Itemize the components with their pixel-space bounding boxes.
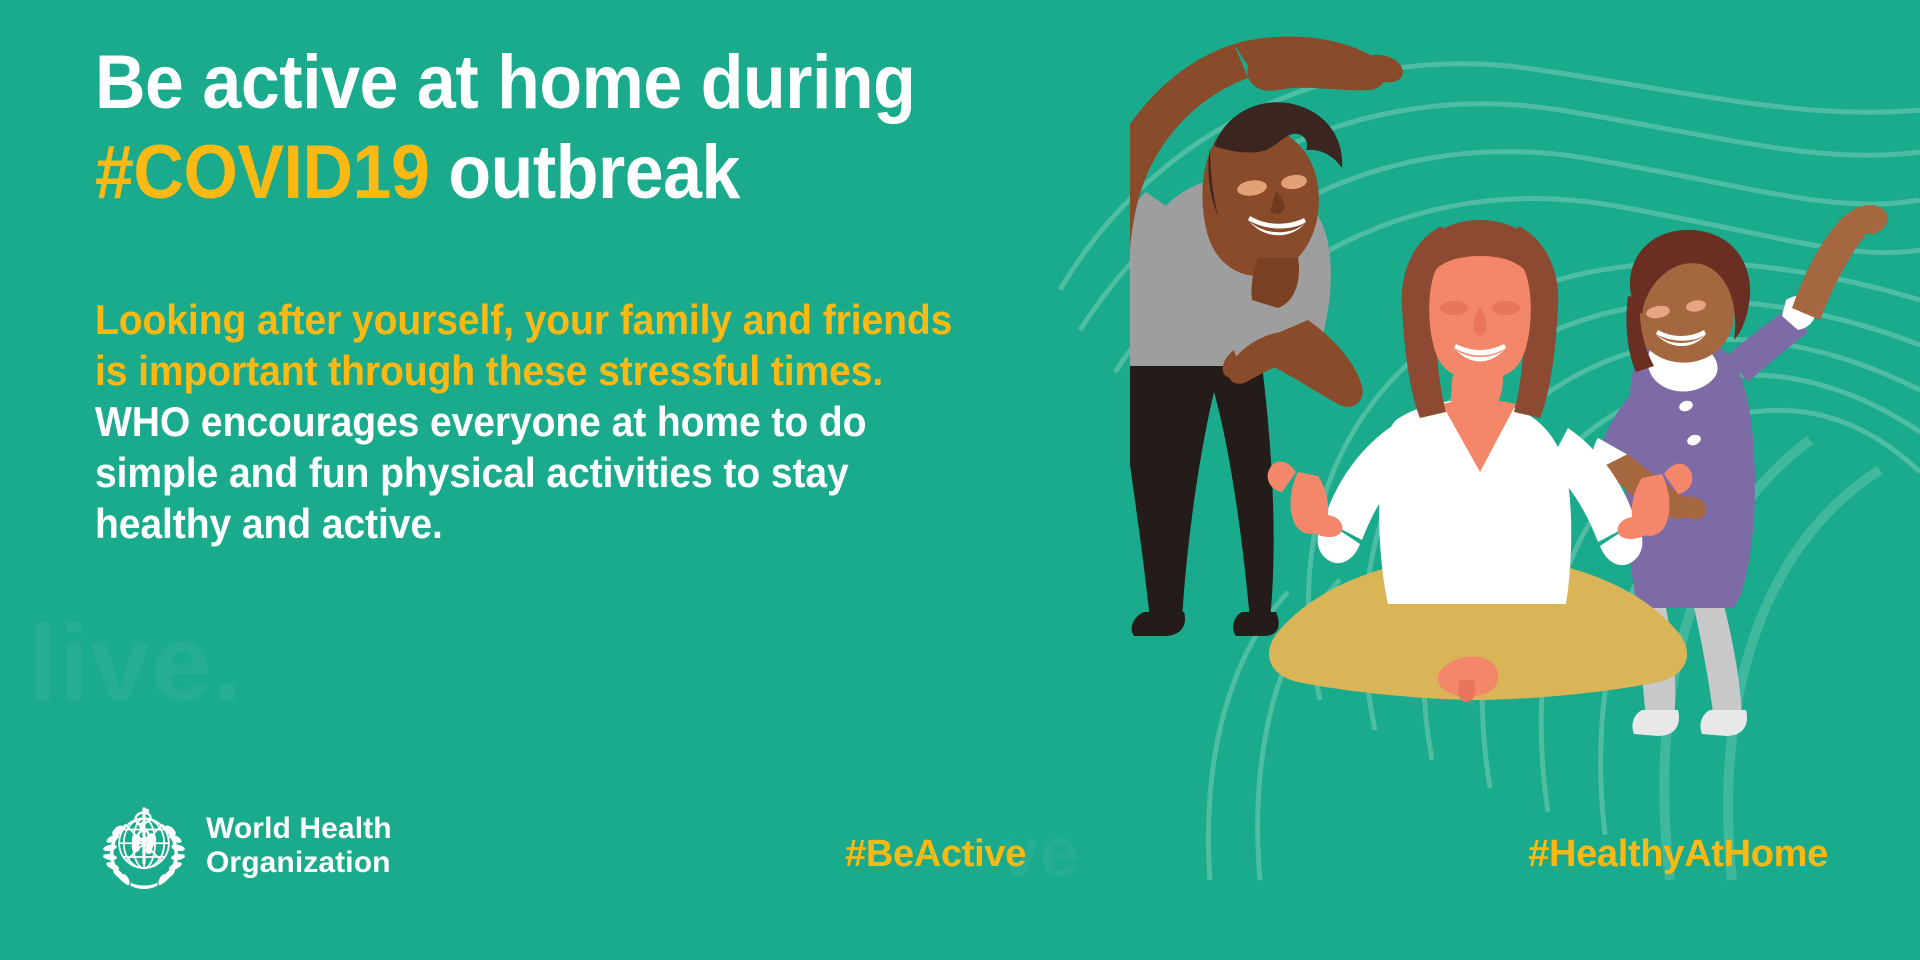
page-title: Be active at home during #COVID19 outbre… — [95, 38, 951, 217]
headline-hashtag-covid19: #COVID19 — [95, 130, 429, 215]
who-emblem-icon — [98, 800, 190, 892]
figure-standing-man — [1130, 36, 1403, 636]
text-column: Be active at home during #COVID19 outbre… — [95, 38, 1025, 549]
body-plain-sentence: WHO encourages everyone at home to do si… — [95, 398, 866, 547]
watermark-left: live. — [28, 600, 243, 725]
body-paragraph: Looking after yourself, your family and … — [95, 295, 960, 549]
headline-line-1: Be active at home during — [95, 40, 915, 125]
family-exercising-illustration — [1130, 20, 1920, 830]
poster-canvas: live. ve Be active at home during #COVID… — [0, 0, 1920, 960]
hashtag-healthyathome: #HealthyAtHome — [1528, 833, 1828, 876]
body-accent-sentence: Looking after yourself, your family and … — [95, 296, 952, 394]
who-wordmark: World Health Organization — [206, 812, 392, 880]
headline-line-2-rest: outbreak — [429, 130, 740, 215]
hashtag-beactive: #BeActive — [845, 833, 1026, 876]
who-logo: World Health Organization — [98, 800, 392, 892]
